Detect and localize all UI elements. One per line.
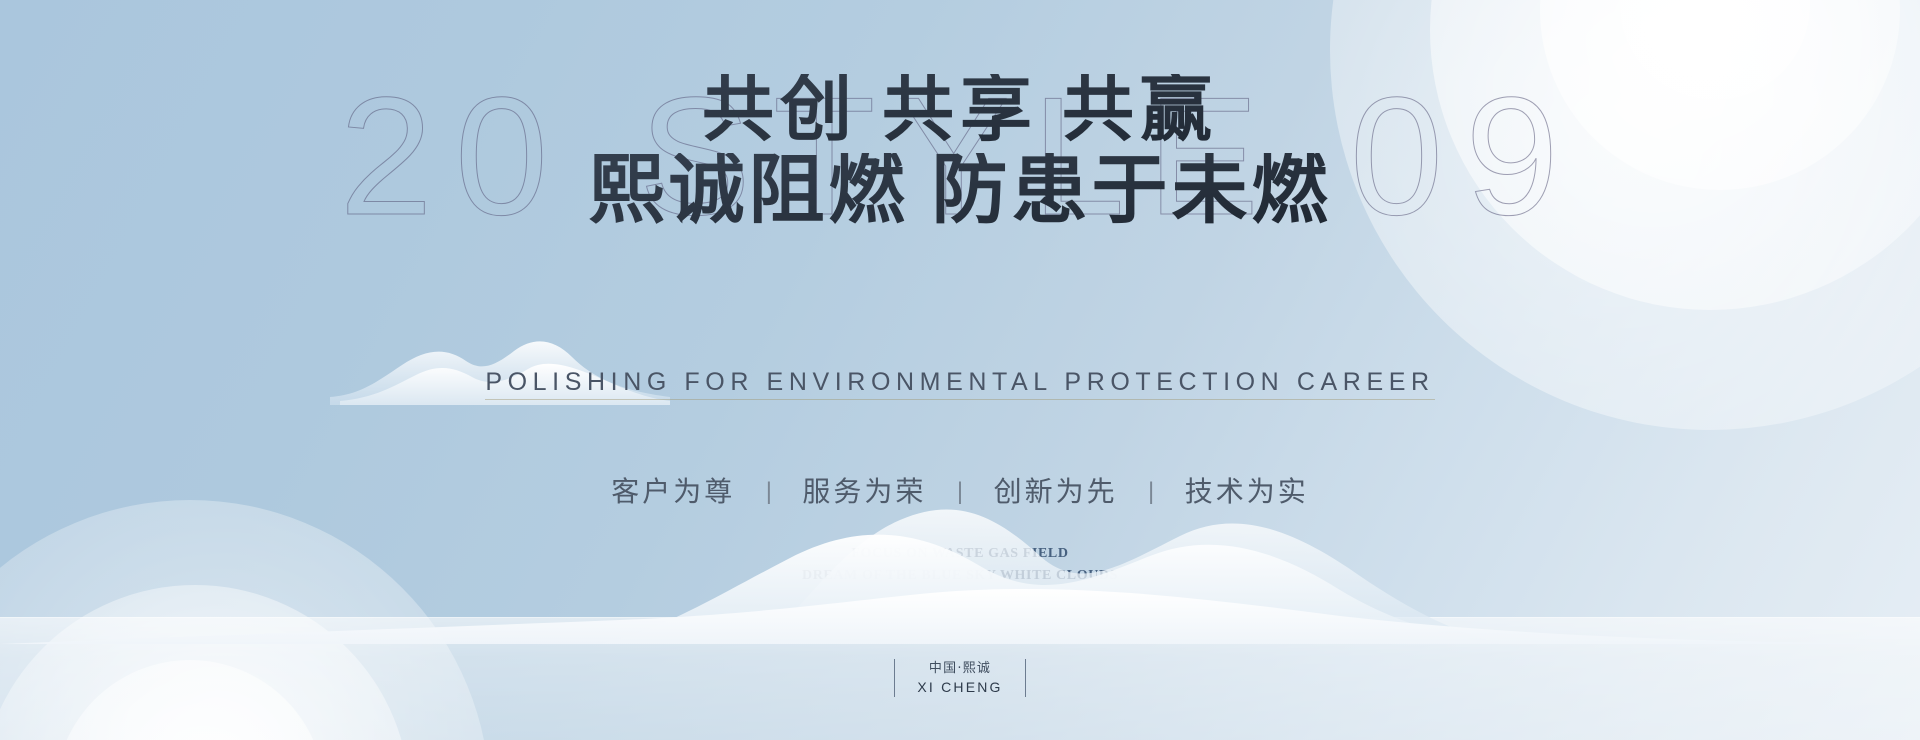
headline-line-1: 共创 共享 共赢 (0, 74, 1920, 147)
ring-top-right-core-icon (1620, 0, 1810, 100)
cloud-mountain-bottom-icon (0, 494, 1920, 644)
brand-name-english: XI CHENG (917, 678, 1002, 698)
brand-text-block: 中国·熙诚 XI CHENG (917, 659, 1002, 698)
cloud-mountain-left-icon (330, 325, 670, 405)
english-tagline-block: POLISHING FOR ENVIRONMENTAL PROTECTION C… (0, 368, 1920, 400)
ring-top-right-mid-icon (1430, 0, 1920, 310)
subtext-line-1: FOCUS ON WASTE GAS FIELD (0, 543, 1920, 565)
headline-block: 共创 共享 共赢 熙诚阻燃 防患于未燃 (0, 74, 1920, 231)
values-row: 客户为尊 | 服务为荣 | 创新为先 | 技术为实 (0, 470, 1920, 510)
brand-divider-right (1025, 659, 1026, 697)
background-ghost-text: 20 STYLE 09 (339, 72, 1580, 240)
horizon-line (0, 617, 1920, 618)
floor-band (0, 618, 1920, 740)
english-tagline: POLISHING FOR ENVIRONMENTAL PROTECTION C… (485, 368, 1434, 400)
brand-footer: 中国·熙诚 XI CHENG (0, 659, 1920, 698)
value-item-3: 创新为先 (994, 475, 1118, 508)
brand-name-chinese: 中国·熙诚 (917, 659, 1002, 679)
brand-divider-left (894, 659, 895, 697)
value-separator-3: | (1148, 478, 1154, 506)
ring-bottom-left-inner-icon (55, 660, 325, 740)
ring-top-right-outer-icon (1330, 0, 1920, 430)
poster-banner: 20 STYLE 09 共创 共享 共赢 熙诚阻燃 防患于未燃 POLISHIN… (0, 0, 1920, 740)
value-item-2: 服务为荣 (802, 475, 926, 508)
value-separator-1: | (766, 478, 772, 506)
value-item-1: 客户为尊 (611, 475, 735, 508)
value-separator-2: | (957, 478, 963, 506)
value-item-4: 技术为实 (1185, 475, 1309, 508)
ring-top-right-inner-icon (1540, 0, 1900, 190)
headline-line-2: 熙诚阻燃 防患于未燃 (0, 153, 1920, 231)
subtext-line-2: DREAM OF THE BLUE SKY WHITE CLOUDS (0, 565, 1920, 587)
ring-bottom-left-mid-icon (0, 585, 410, 740)
subtext-block: FOCUS ON WASTE GAS FIELD DREAM OF THE BL… (0, 543, 1920, 586)
ring-bottom-left-outer-icon (0, 500, 490, 740)
